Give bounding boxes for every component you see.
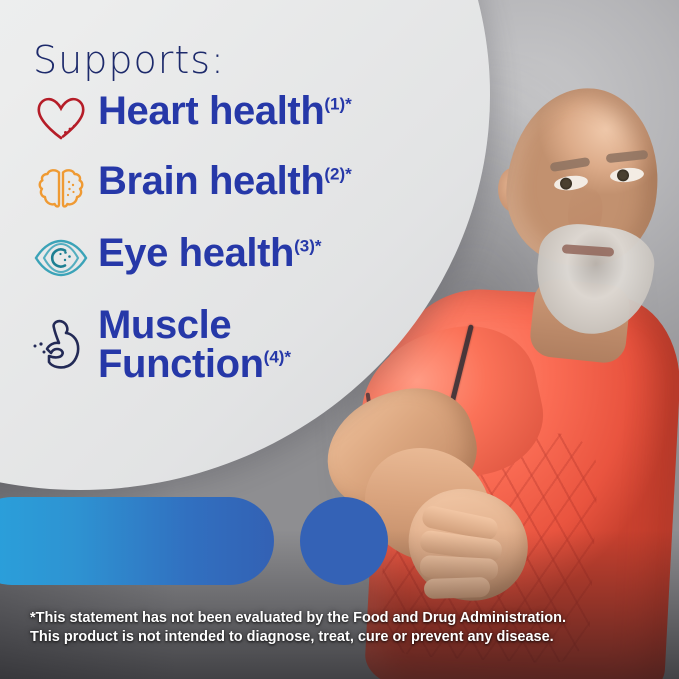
benefits-list: Heart health(1)* Brain health(2)* bbox=[24, 92, 444, 432]
page-title: Supports: bbox=[33, 38, 225, 82]
heart-icon bbox=[24, 92, 98, 142]
product-benefits-banner: Supports: Heart health(1)* bbox=[0, 0, 679, 679]
benefit-item-eye: Eye health(3)* bbox=[24, 234, 444, 296]
benefit-footnote: (1)* bbox=[324, 95, 351, 114]
fda-disclaimer: *This statement has not been evaluated b… bbox=[30, 609, 630, 647]
benefit-item-heart: Heart health(1)* bbox=[24, 92, 444, 152]
benefit-item-muscle: MuscleFunction(4)* bbox=[24, 306, 444, 422]
benefit-footnote: (3)* bbox=[294, 237, 321, 256]
benefit-footnote: (2)* bbox=[324, 165, 351, 184]
benefit-item-brain: Brain health(2)* bbox=[24, 162, 444, 224]
disclaimer-line-2: This product is not intended to diagnose… bbox=[30, 628, 630, 647]
disclaimer-line-1: *This statement has not been evaluated b… bbox=[30, 609, 630, 628]
eye-icon bbox=[24, 234, 98, 278]
benefit-label-muscle: MuscleFunction(4)* bbox=[98, 306, 291, 384]
benefit-label-brain: Brain health(2)* bbox=[98, 162, 352, 201]
benefit-label-heart: Heart health(1)* bbox=[98, 92, 352, 131]
benefit-label-eye: Eye health(3)* bbox=[98, 234, 322, 273]
brain-icon bbox=[24, 162, 98, 214]
benefit-footnote: (4)* bbox=[264, 348, 291, 367]
muscle-icon bbox=[24, 306, 98, 372]
